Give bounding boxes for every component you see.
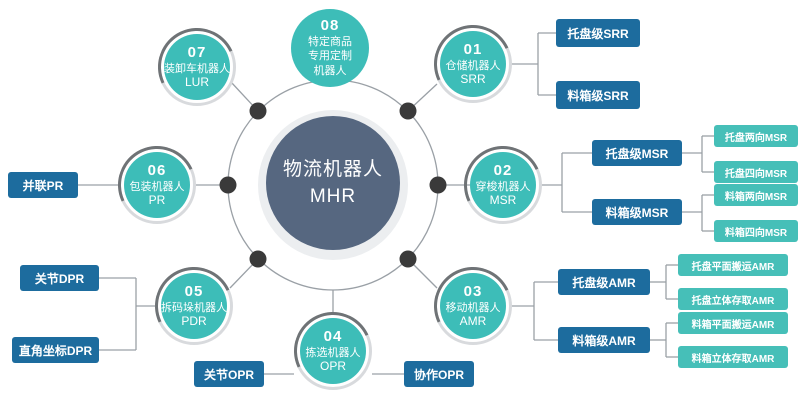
orbit-dot-w [220, 177, 237, 194]
node-02[interactable]: 02 穿梭机器人 MSR [464, 146, 542, 224]
box-tuopan-liangxiang-msr[interactable]: 托盘两向MSR [714, 125, 798, 147]
node-number-05: 05 [185, 284, 204, 301]
node-number-01: 01 [464, 42, 483, 59]
node-label-cn-08-line2: 专用定制 [308, 50, 352, 63]
node-label-cn-03: 移动机器人 [446, 302, 501, 314]
node-core-08: 08 特定商品 专用定制 机器人 [291, 9, 369, 87]
node-label-cn-06: 包装机器人 [130, 181, 185, 193]
box-liaoxiang-sixiang-msr[interactable]: 料箱四向MSR [714, 220, 798, 242]
box-liaoxiangji-amr[interactable]: 料箱级AMR [558, 327, 650, 353]
box-tuopan-pingmian-banyun-amr[interactable]: 托盘平面搬运AMR [678, 254, 788, 276]
node-core-01: 01 仓储机器人 SRR [440, 31, 506, 97]
node-04[interactable]: 04 拣选机器人 OPR [294, 312, 372, 390]
node-05[interactable]: 05 拆码垛机器人 PDR [155, 267, 233, 345]
hub-label-cn: 物流机器人 [283, 158, 383, 182]
node-label-cn-01: 仓储机器人 [446, 60, 501, 72]
node-core-05: 05 拆码垛机器人 PDR [161, 273, 227, 339]
node-label-cn-04: 拣选机器人 [306, 347, 361, 359]
box-liaoxiang-pingmian-banyun-amr[interactable]: 料箱平面搬运AMR [678, 312, 788, 334]
node-core-04: 04 拣选机器人 OPR [300, 318, 366, 384]
box-binglian-pr[interactable]: 并联PR [8, 172, 78, 198]
box-tuopanji-srr[interactable]: 托盘级SRR [556, 19, 640, 47]
box-tuopan-sixiang-msr[interactable]: 托盘四向MSR [714, 161, 798, 183]
node-08[interactable]: 08 特定商品 专用定制 机器人 [291, 9, 369, 87]
hub-center[interactable]: 物流机器人 MHR [266, 116, 400, 250]
box-liaoxiangji-msr[interactable]: 料箱级MSR [592, 199, 682, 225]
node-label-cn-02: 穿梭机器人 [476, 181, 531, 193]
node-label-en-07: LUR [185, 76, 209, 89]
hub-label-en: MHR [310, 185, 356, 209]
box-tuopanji-msr[interactable]: 托盘级MSR [592, 140, 682, 166]
box-xiezuo-opr[interactable]: 协作OPR [404, 361, 474, 387]
box-liaoxiang-liti-cunqu-amr[interactable]: 料箱立体存取AMR [678, 346, 788, 368]
node-core-03: 03 移动机器人 AMR [440, 273, 506, 339]
node-01[interactable]: 01 仓储机器人 SRR [434, 25, 512, 103]
node-number-06: 06 [148, 163, 167, 180]
node-label-cn-07: 装卸车机器人 [164, 63, 230, 75]
orbit-dot-ne [400, 103, 417, 120]
node-number-04: 04 [324, 329, 343, 346]
node-06[interactable]: 06 包装机器人 PR [118, 146, 196, 224]
box-tuopan-liti-cunqu-amr[interactable]: 托盘立体存取AMR [678, 288, 788, 310]
orbit-dot-se [400, 251, 417, 268]
node-label-en-03: AMR [460, 315, 487, 328]
node-label-cn-08-line3: 机器人 [314, 65, 347, 78]
box-zhijiaozuobiao-dpr[interactable]: 直角坐标DPR [12, 337, 99, 363]
node-label-en-05: PDR [181, 315, 206, 328]
node-core-06: 06 包装机器人 PR [124, 152, 190, 218]
node-core-07: 07 装卸车机器人 LUR [164, 34, 230, 100]
box-liaoxiangji-srr[interactable]: 料箱级SRR [556, 81, 640, 109]
orbit-dot-sw [250, 251, 267, 268]
node-07[interactable]: 07 装卸车机器人 LUR [158, 28, 236, 106]
node-label-en-06: PR [149, 194, 166, 207]
box-guanjie-opr[interactable]: 关节OPR [194, 361, 264, 387]
node-label-en-04: OPR [320, 360, 346, 373]
node-number-08: 08 [321, 18, 340, 35]
box-liaoxiang-liangxiang-msr[interactable]: 料箱两向MSR [714, 184, 798, 206]
node-label-cn-05: 拆码垛机器人 [161, 302, 227, 314]
node-number-03: 03 [464, 284, 483, 301]
node-03[interactable]: 03 移动机器人 AMR [434, 267, 512, 345]
box-tuopanji-amr[interactable]: 托盘级AMR [558, 269, 650, 295]
node-label-en-01: SRR [460, 73, 485, 86]
node-label-en-02: MSR [490, 194, 517, 207]
orbit-dot-nw [250, 103, 267, 120]
node-label-cn-08-line1: 特定商品 [308, 36, 352, 49]
node-core-02: 02 穿梭机器人 MSR [470, 152, 536, 218]
orbit-dot-e [430, 177, 447, 194]
node-number-07: 07 [188, 45, 207, 62]
diagram-canvas: 物流机器人 MHR 07 装卸车机器人 LUR 08 特定商品 专用定制 机器人… [0, 0, 800, 400]
box-guanjie-dpr[interactable]: 关节DPR [20, 265, 99, 291]
node-number-02: 02 [494, 163, 513, 180]
